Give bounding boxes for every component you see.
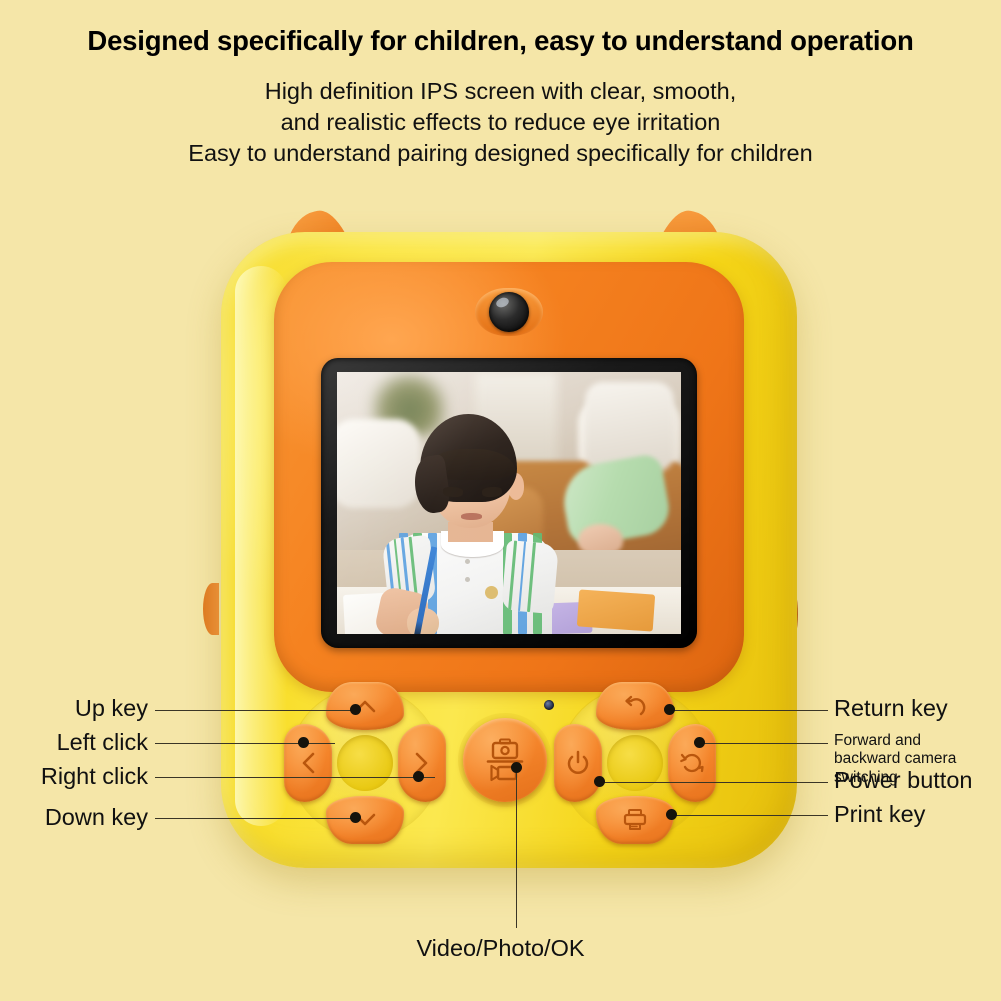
camera-switch-icon — [679, 750, 705, 776]
anchor-dot-return-key — [664, 704, 675, 715]
chevron-left-icon — [301, 752, 315, 774]
anchor-dot-down-key — [350, 812, 361, 823]
ips-screen — [337, 372, 681, 634]
camera-video-icon — [482, 736, 528, 784]
leader-line-down-key — [155, 818, 357, 819]
lens-housing — [475, 288, 543, 336]
status-led-icon — [544, 700, 554, 710]
callout-label-shutter: Video/Photo/OK — [0, 935, 1001, 962]
anchor-dot-shutter — [511, 762, 522, 773]
anchor-dot-up-key — [350, 704, 361, 715]
callout-label-return-key: Return key — [834, 695, 948, 722]
leader-line-shutter — [516, 768, 517, 928]
anchor-dot-right-click — [413, 771, 424, 782]
camera-front-panel — [274, 262, 744, 692]
leader-line-power-button — [600, 782, 828, 783]
callout-label-right-click: Right click — [0, 763, 148, 790]
dpad-down-key[interactable] — [326, 796, 404, 844]
dpad-left-key[interactable] — [284, 724, 332, 802]
leader-line-camera-switch — [700, 743, 828, 744]
callout-label-print-key: Print key — [834, 801, 925, 828]
printer-icon — [621, 808, 649, 832]
leader-line-right-click — [155, 777, 435, 778]
leader-line-return-key — [668, 710, 828, 711]
print-key[interactable] — [596, 796, 674, 844]
leader-line-up-key — [155, 710, 355, 711]
power-button[interactable] — [554, 724, 602, 802]
anchor-dot-left-click — [298, 737, 309, 748]
power-icon — [566, 750, 590, 776]
dpad-right-key[interactable] — [398, 724, 446, 802]
dpad-up-key[interactable] — [326, 682, 404, 730]
callout-label-down-key: Down key — [0, 804, 148, 831]
dpad-hub — [337, 735, 393, 791]
anchor-dot-camera-switch — [694, 737, 705, 748]
camera-illustration — [0, 0, 1001, 1001]
camera-lens-icon — [489, 292, 529, 332]
screen-bezel — [321, 358, 697, 648]
side-button-left[interactable] — [203, 583, 219, 635]
screen-glare — [337, 372, 681, 634]
leader-line-print-key — [672, 815, 828, 816]
camera-switch-key[interactable] — [668, 724, 716, 802]
anchor-dot-print-key — [666, 809, 677, 820]
callout-label-left-click: Left click — [0, 729, 148, 756]
callout-label-power-button: Power button — [834, 767, 972, 794]
return-key[interactable] — [596, 682, 674, 730]
shutter-button[interactable] — [463, 718, 547, 802]
return-arrow-icon — [622, 694, 648, 718]
anchor-dot-power-button — [594, 776, 605, 787]
callout-label-up-key: Up key — [0, 695, 148, 722]
